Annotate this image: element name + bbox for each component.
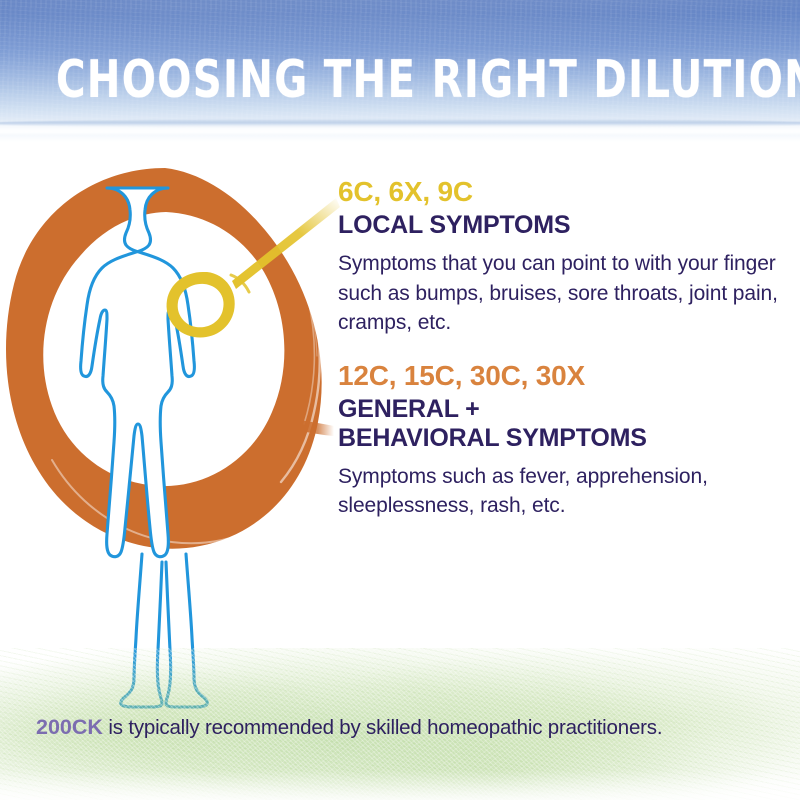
- footnote-text: is typically recommended by skilled home…: [103, 716, 662, 739]
- dilution-category-general-line1: GENERAL +: [338, 395, 480, 423]
- header-banner: CHOOSING THE RIGHT DILUTION: [0, 0, 800, 142]
- dilution-description-general: Symptoms such as fever, apprehension, sl…: [338, 462, 786, 521]
- infographic-page: CHOOSING THE RIGHT DILUTION: [0, 0, 800, 800]
- dilution-block-local: 6C, 6X, 9C LOCAL SYMPTOMS Symptoms that …: [338, 176, 786, 338]
- body-diagram: [0, 150, 340, 710]
- dilution-category-local: LOCAL SYMPTOMS: [338, 211, 786, 240]
- page-title: CHOOSING THE RIGHT DILUTION: [56, 52, 744, 108]
- dilution-text-column: 6C, 6X, 9C LOCAL SYMPTOMS Symptoms that …: [338, 176, 786, 521]
- human-body-outline: [81, 188, 208, 707]
- footnote-dilution-value: 200CK: [36, 715, 103, 739]
- dilution-description-local: Symptoms that you can point to with your…: [338, 249, 786, 338]
- dilution-block-general: 12C, 15C, 30C, 30X GENERAL + BEHAVIORAL …: [338, 360, 786, 521]
- footer-bottom-fade: [0, 770, 800, 800]
- footnote: 200CK is typically recommended by skille…: [36, 714, 796, 741]
- dilution-category-general: GENERAL + BEHAVIORAL SYMPTOMS: [338, 395, 786, 453]
- dilution-category-general-line2: BEHAVIORAL SYMPTOMS: [338, 424, 647, 452]
- dilution-values-local: 6C, 6X, 9C: [338, 176, 786, 208]
- header-fade-to-white: [0, 120, 800, 134]
- dilution-values-general: 12C, 15C, 30C, 30X: [338, 360, 786, 392]
